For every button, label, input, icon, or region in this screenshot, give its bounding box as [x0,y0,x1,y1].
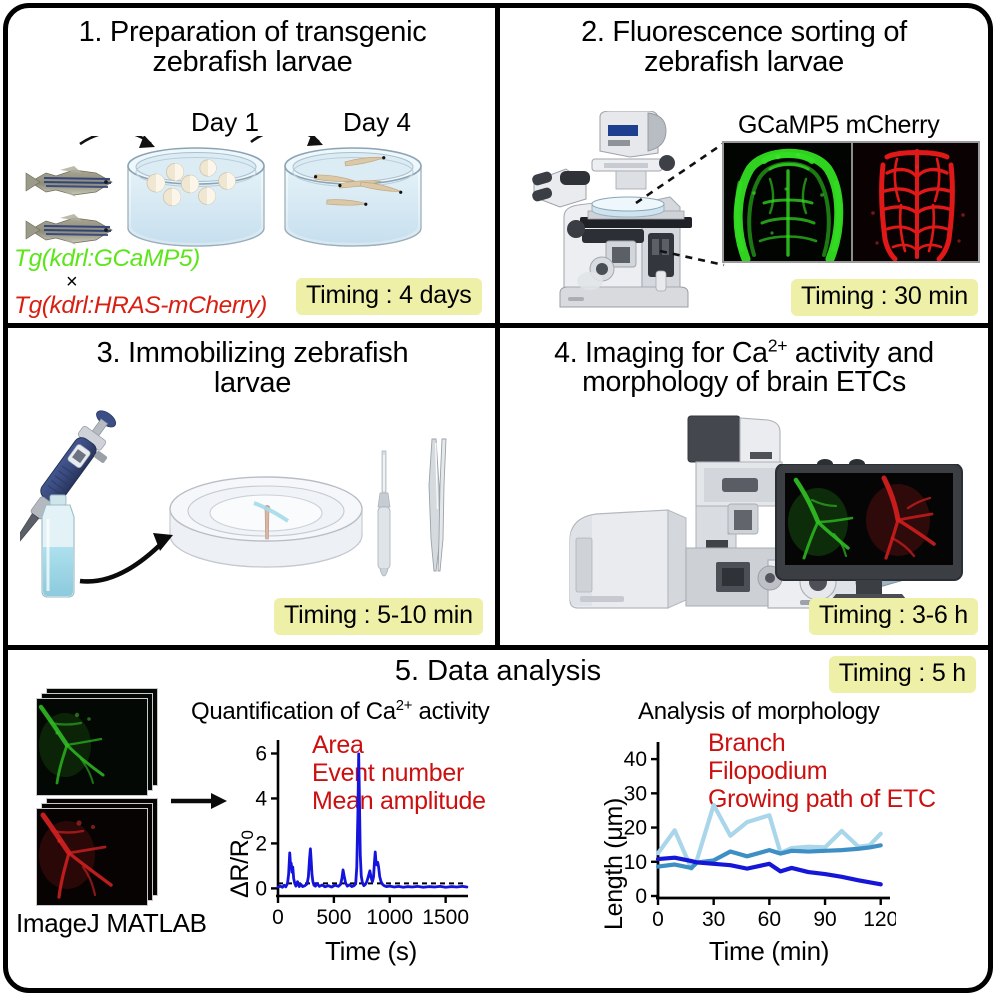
day-4-label: Day 4 [343,107,411,138]
panel-2-title-line1: 2. Fluorescence sorting of [581,16,907,48]
timing-badge-3: Timing : 5-10 min [274,598,483,635]
arrow-icon [251,136,323,146]
morphology-chart-plot: 0102030400306090120 [596,732,896,932]
protocol-figure: 1. Preparation of transgenic zebrafish l… [0,0,996,996]
panel-1-title: 1. Preparation of transgenic zebrafish l… [8,8,497,78]
calcium-activity-chart: ΔR/R0 Area Event number Mean amplitude 0… [222,730,470,975]
panel-3-immobilizing: 3. Immobilizing zebrafish larvae [8,328,497,645]
panel-5-data-analysis: 5. Data analysis Timing : 5 h Quantifica… [8,650,988,988]
svg-text:6: 6 [255,742,267,765]
panel-1-preparation: 1. Preparation of transgenic zebrafish l… [8,8,497,323]
petri-dish-icon [128,148,264,246]
panel-2-title: 2. Fluorescence sorting of zebrafish lar… [500,8,988,78]
panel-2-title-line2: zebrafish larvae [644,46,844,78]
red-image-stack [36,798,158,906]
svg-text:0: 0 [635,885,647,908]
bottle-icon [42,495,74,597]
svg-text:500: 500 [316,906,351,929]
fluorescence-channel-label: GCaMP5 mCherry [738,111,939,140]
svg-text:1000: 1000 [366,906,413,929]
svg-text:90: 90 [813,908,836,931]
panel-3-title-line1: 3. Immobilizing zebrafish [97,337,409,369]
petri-dish-icon [285,148,421,246]
timing-badge-4: Timing : 3-6 h [809,598,978,635]
zebrafish-icon [26,214,112,245]
calcium-chart-plot: 0246050010001500 [222,732,470,932]
subtitle-morphology-analysis: Analysis of morphology [638,698,880,726]
day-1-label: Day 1 [191,107,259,138]
panel-3-title-line2: larvae [214,367,291,399]
arrow-icon [80,136,155,148]
transfer-pipette-icon [378,451,390,576]
panel-4-imaging: 4. Imaging for Ca2+ activity and morphol… [500,328,988,645]
calcium-chart-xlabel: Time (s) [276,936,466,967]
monitor-icon [774,464,986,604]
gcamp5-channel-image [724,143,851,261]
svg-text:30: 30 [702,908,725,931]
panel-4-title-superscript: 2+ [768,336,788,356]
svg-text:2: 2 [255,832,267,855]
svg-text:0: 0 [652,908,664,931]
forceps-icon [429,439,446,571]
subtitle-calcium-superscript: 2+ [396,698,412,714]
svg-text:0: 0 [255,877,267,900]
laser-unit-icon [570,510,686,608]
svg-text:60: 60 [758,908,781,931]
subtitle-calcium-quantification: Quantification of Ca2+ activity [191,698,490,726]
zebrafish-icon [26,166,112,197]
panel-4-title-line1b: activity and [787,337,934,369]
mcherry-channel-image [851,143,978,261]
morphology-chart-xlabel: Time (min) [654,936,884,967]
timing-badge-5: Timing : 5 h [829,656,976,693]
eyepiece-icon [531,169,590,207]
svg-text:4: 4 [255,787,267,810]
panel-4-title: 4. Imaging for Ca2+ activity and morphol… [500,328,988,398]
software-label: ImageJ MATLAB [16,908,207,939]
genotype-cross-symbol: × [14,273,267,292]
arrow-icon [171,790,227,812]
svg-text:20: 20 [624,817,647,840]
panel-4-title-line2: morphology of brain ETCs [582,366,906,398]
svg-text:10: 10 [624,851,647,874]
subtitle-calcium-text-b: activity [412,698,489,725]
timing-badge-1: Timing : 4 days [296,278,482,315]
subtitle-calcium-text-a: Quantification of Ca [191,698,396,725]
panel-3-illustration [20,403,490,618]
morphology-chart: Length (μm) Branch Filopodium Growing pa… [596,730,896,975]
svg-text:0: 0 [272,906,284,929]
genotype-line-gcamp5: Tg(kdrl:GCaMP5) [14,245,200,272]
svg-text:30: 30 [624,782,647,805]
svg-text:1500: 1500 [422,906,469,929]
fluorescence-image-pair [722,141,980,263]
petri-dish-icon [170,477,362,567]
genotype-line-mcherry: Tg(kdrl:HRAS-mCherry) [14,292,267,319]
genotype-cross-label: Tg(kdrl:GCaMP5) × Tg(kdrl:HRAS-mCherry) [14,245,267,319]
svg-text:120: 120 [863,908,896,931]
panel-2-fluorescence-sorting: 2. Fluorescence sorting of zebrafish lar… [500,8,988,323]
arrow-icon [80,533,173,581]
green-image-stack [36,688,158,796]
svg-text:40: 40 [624,748,647,771]
panel-4-title-line1a: 4. Imaging for Ca [554,337,768,369]
timing-badge-2: Timing : 30 min [791,279,978,316]
panel-1-title-line1: 1. Preparation of transgenic [79,16,427,48]
panel-1-title-line2: zebrafish larvae [153,46,353,78]
panel-3-title: 3. Immobilizing zebrafish larvae [8,328,497,399]
